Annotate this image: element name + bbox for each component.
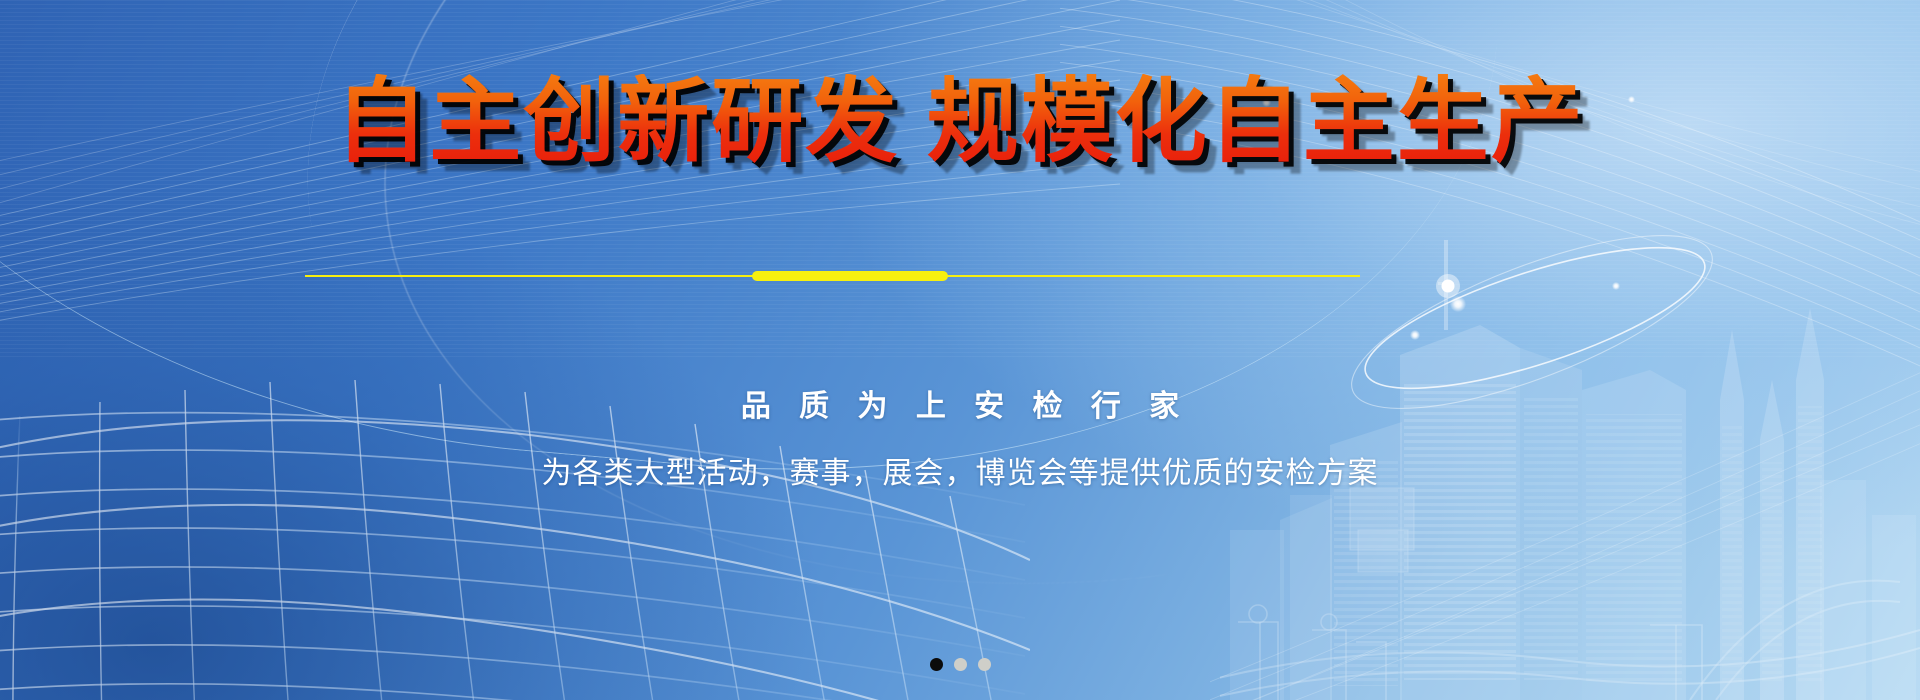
- yellow-divider: [0, 268, 1920, 284]
- banner-slogan: 品 质 为 上 安 检 行 家: [0, 381, 1920, 425]
- banner-content: 自主创新研发 规模化自主生产 品 质 为 上 安 检 行 家 为各类大型活动，赛…: [0, 0, 1920, 700]
- banner-main-title: 自主创新研发 规模化自主生产: [0, 74, 1920, 171]
- divider-thick-segment: [752, 271, 948, 281]
- carousel-pagination[interactable]: [0, 658, 1920, 671]
- banner-description: 为各类大型活动，赛事，展会，博览会等提供优质的安检方案: [0, 448, 1920, 492]
- carousel-dot-3[interactable]: [978, 658, 991, 671]
- carousel-dot-2[interactable]: [954, 658, 967, 671]
- carousel-dot-1[interactable]: [930, 658, 943, 671]
- hero-banner: 自主创新研发 规模化自主生产 品 质 为 上 安 检 行 家 为各类大型活动，赛…: [0, 0, 1920, 700]
